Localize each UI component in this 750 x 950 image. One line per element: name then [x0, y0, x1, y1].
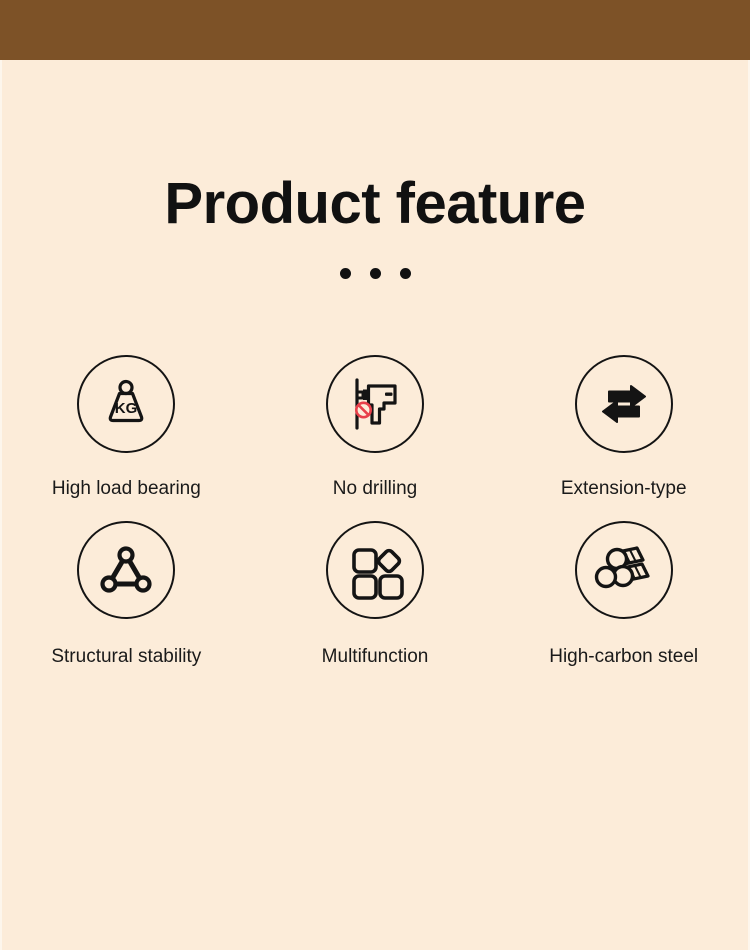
- top-accent-bar: [0, 0, 750, 60]
- feature-label: High-carbon steel: [549, 646, 698, 669]
- divider-dot: [340, 268, 351, 279]
- feature-label: Structural stability: [51, 646, 201, 669]
- feature-label: No drilling: [333, 478, 417, 501]
- feature-item-high-carbon-steel: High-carbon steel: [499, 521, 748, 669]
- page-title: Product feature: [2, 175, 748, 233]
- divider-dot: [370, 268, 381, 279]
- feature-item-extension-type: Extension-type: [499, 355, 748, 501]
- feature-label: High load bearing: [52, 478, 201, 501]
- feature-grid: KG High load bearing: [2, 355, 748, 669]
- no-drilling-icon: [326, 355, 424, 453]
- feature-row: KG High load bearing: [2, 355, 748, 501]
- divider-dot: [400, 268, 411, 279]
- feature-row: Structural stability Multifunction: [2, 521, 748, 669]
- feature-item-high-load-bearing: KG High load bearing: [2, 355, 251, 501]
- feature-label: Multifunction: [322, 646, 429, 669]
- bidirectional-arrows-icon: [575, 355, 673, 453]
- steel-tubes-icon: [575, 521, 673, 619]
- weight-unit-label: KG: [115, 400, 138, 417]
- product-feature-page: Product feature KG High load bearing: [0, 0, 750, 950]
- triangle-nodes-icon: [77, 521, 175, 619]
- multifunction-shapes-icon: [326, 521, 424, 619]
- feature-label: Extension-type: [561, 478, 687, 501]
- feature-item-no-drilling: No drilling: [251, 355, 500, 501]
- divider-dots: [2, 268, 748, 279]
- weight-kg-icon: KG: [77, 355, 175, 453]
- feature-item-multifunction: Multifunction: [251, 521, 500, 669]
- feature-item-structural-stability: Structural stability: [2, 521, 251, 669]
